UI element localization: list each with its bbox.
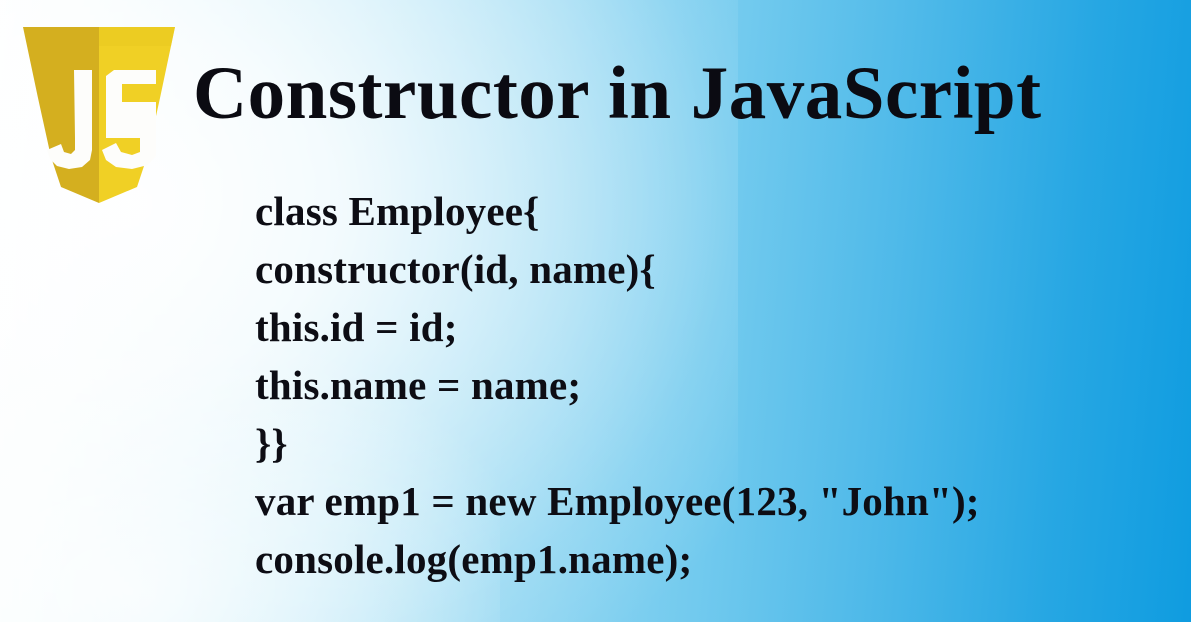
code-line: var emp1 = new Employee(123, "John"); [255, 472, 1155, 530]
page-title: Constructor in JavaScript [193, 55, 1042, 134]
code-line: constructor(id, name){ [255, 240, 1155, 298]
javascript-shield-logo [20, 26, 178, 204]
code-line: }} [255, 414, 1155, 472]
code-line: this.id = id; [255, 298, 1155, 356]
slide-canvas: Constructor in JavaScript class Employee… [0, 0, 1191, 622]
code-line: this.name = name; [255, 356, 1155, 414]
code-line: console.log(emp1.name); [255, 530, 1155, 588]
code-block: class Employee{ constructor(id, name){ t… [255, 182, 1155, 588]
code-line: class Employee{ [255, 182, 1155, 240]
